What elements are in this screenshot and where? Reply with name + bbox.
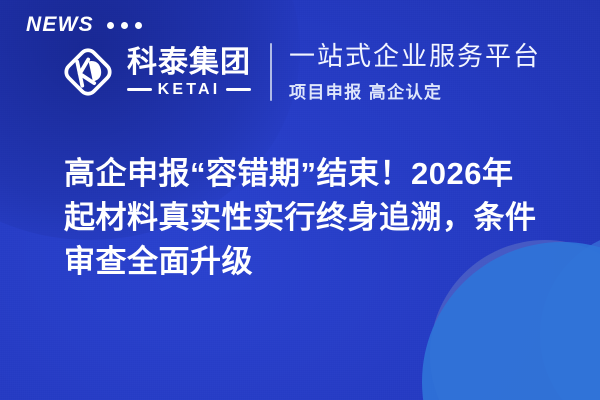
eyebrow-label: NEWS <box>26 14 94 35</box>
brand-wordmark: 科泰集团 KETAI <box>127 47 251 97</box>
brand-name-cn: 科泰集团 <box>127 47 251 78</box>
brand-lockup: 科泰集团 KETAI <box>58 42 251 102</box>
brand-rule-right <box>226 88 251 91</box>
headline: 高企申报“容错期”结束！2026年 起材料真实性实行终身追溯，条件 审查全面升级 <box>64 152 578 284</box>
news-banner: NEWS 科泰集团 <box>0 0 600 400</box>
brand-row: 科泰集团 KETAI 一站式企业服务平台 项目申报 高企认定 <box>58 42 541 103</box>
brand-name-en: KETAI <box>158 82 221 98</box>
ketai-diamond-monogram-icon <box>58 42 118 102</box>
headline-line-3: 审查全面升级 <box>64 240 578 284</box>
tagline-sub: 项目申报 高企认定 <box>289 78 541 103</box>
brand-divider <box>270 43 272 101</box>
brand-name-en-row: KETAI <box>127 82 251 98</box>
eyebrow-dot <box>107 22 114 29</box>
headline-line-2: 起材料真实性实行终身追溯，条件 <box>64 196 578 240</box>
eyebrow-dot <box>121 22 128 29</box>
eyebrow-dots-icon <box>107 20 142 29</box>
eyebrow-dot <box>135 22 142 29</box>
eyebrow: NEWS <box>26 14 142 35</box>
tagline-main: 一站式企业服务平台 <box>289 42 541 72</box>
tagline-block: 一站式企业服务平台 项目申报 高企认定 <box>289 42 541 103</box>
brand-rule-left <box>127 88 152 91</box>
headline-line-1: 高企申报“容错期”结束！2026年 <box>64 152 578 196</box>
